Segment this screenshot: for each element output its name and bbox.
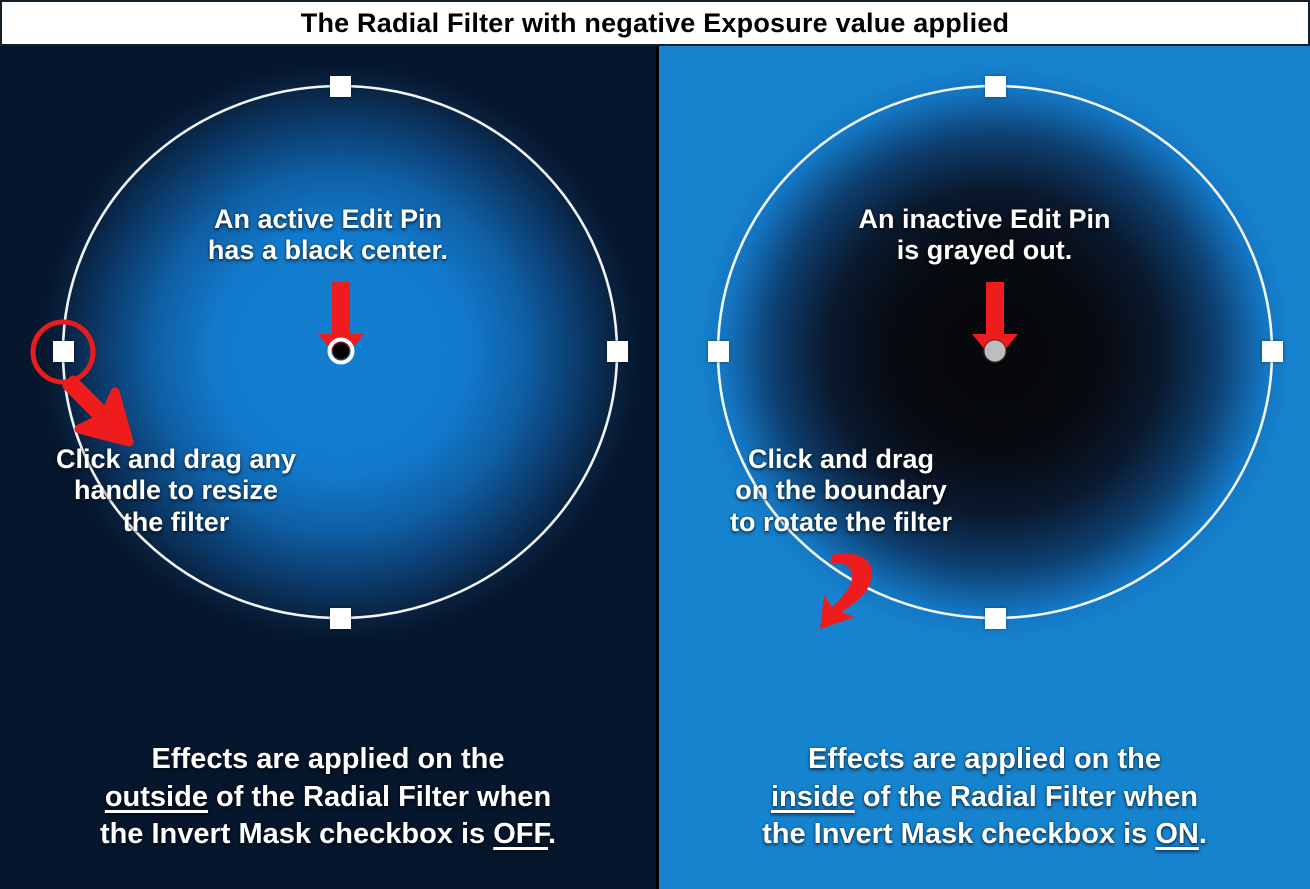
figure-title-bar: The Radial Filter with negative Exposure…: [0, 0, 1310, 46]
right-drag-note-line3: to rotate the filter: [671, 507, 1011, 538]
right-caption-line3-post: .: [1199, 818, 1207, 850]
right-caption-emphasis-on: ON: [1155, 818, 1199, 850]
left-caption-emphasis-off: OFF: [493, 818, 548, 850]
left-caption-line3: the Invert Mask checkbox is OFF.: [0, 816, 656, 854]
left-drag-note-line3: the filter: [0, 507, 352, 538]
handle-left[interactable]: [53, 341, 74, 362]
right-drag-note-line2: on the boundary: [671, 475, 1011, 506]
handle-bottom[interactable]: [985, 608, 1006, 629]
right-edit-pin-note-line2: is grayed out.: [659, 235, 1310, 266]
panel-container: An active Edit Pin has a black center. C…: [0, 46, 1310, 889]
left-edit-pin-note: An active Edit Pin has a black center.: [0, 204, 656, 267]
handle-top[interactable]: [985, 76, 1006, 97]
left-caption-line2-post: of the Radial Filter when: [208, 781, 551, 813]
left-caption-line1: Effects are applied on the: [0, 741, 656, 779]
right-caption-line3-pre: the Invert Mask checkbox is: [762, 818, 1155, 850]
right-caption-line2-post: of the Radial Filter when: [855, 781, 1198, 813]
page-title: The Radial Filter with negative Exposure…: [301, 8, 1009, 39]
right-edit-pin-note: An inactive Edit Pin is grayed out.: [659, 204, 1310, 267]
left-drag-note: Click and drag any handle to resize the …: [0, 444, 352, 538]
handle-left[interactable]: [708, 341, 729, 362]
handle-right[interactable]: [607, 341, 628, 362]
right-footer-caption: Effects are applied on the inside of the…: [659, 741, 1310, 854]
right-panel-invert-mask-on: An inactive Edit Pin is grayed out. Clic…: [659, 46, 1310, 889]
left-footer-caption: Effects are applied on the outside of th…: [0, 741, 656, 854]
tutorial-figure: The Radial Filter with negative Exposure…: [0, 0, 1310, 889]
left-edit-pin-note-line2: has a black center.: [0, 235, 656, 266]
handle-top[interactable]: [330, 76, 351, 97]
right-caption-line3: the Invert Mask checkbox is ON.: [659, 816, 1310, 854]
left-panel-invert-mask-off: An active Edit Pin has a black center. C…: [0, 46, 656, 889]
left-caption-line3-pre: the Invert Mask checkbox is: [100, 818, 493, 850]
left-drag-note-line1: Click and drag any: [0, 444, 352, 475]
left-caption-line3-post: .: [548, 818, 556, 850]
panel-divider: [656, 46, 659, 889]
left-edit-pin-note-line1: An active Edit Pin: [0, 204, 656, 235]
right-drag-note: Click and drag on the boundary to rotate…: [671, 444, 1011, 538]
handle-right[interactable]: [1262, 341, 1283, 362]
edit-pin-inactive[interactable]: [983, 339, 1007, 363]
edit-pin-active[interactable]: [328, 338, 354, 364]
right-caption-line1: Effects are applied on the: [659, 741, 1310, 779]
right-edit-pin-note-line1: An inactive Edit Pin: [659, 204, 1310, 235]
right-caption-line2: inside of the Radial Filter when: [659, 779, 1310, 817]
left-caption-emphasis-outside: outside: [105, 781, 208, 813]
left-drag-note-line2: handle to resize: [0, 475, 352, 506]
right-caption-emphasis-inside: inside: [771, 781, 855, 813]
handle-bottom[interactable]: [330, 608, 351, 629]
right-drag-note-line1: Click and drag: [671, 444, 1011, 475]
left-caption-line2: outside of the Radial Filter when: [0, 779, 656, 817]
